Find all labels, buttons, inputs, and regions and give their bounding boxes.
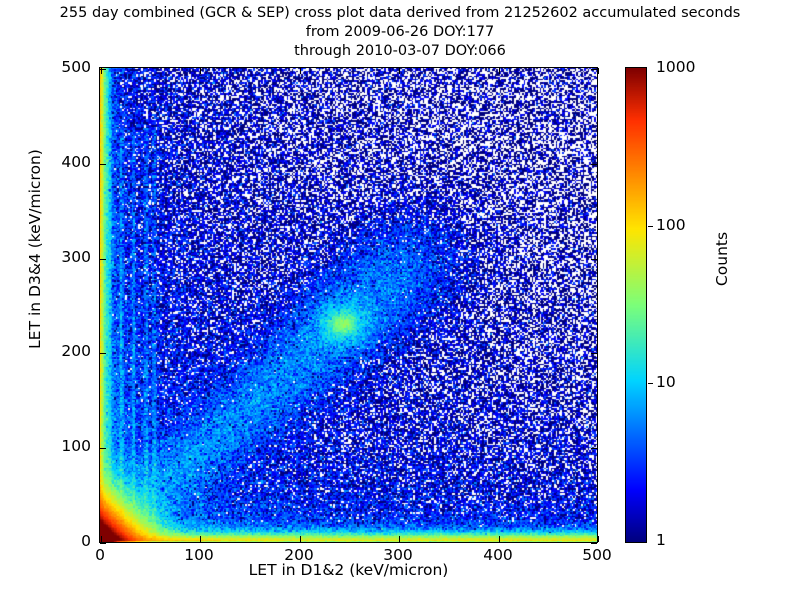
y-axis-title: LET in D3&4 (keV/micron) [26, 84, 44, 414]
y-tick-mark [100, 543, 106, 544]
title-line-2: from 2009-06-26 DOY:177 [0, 23, 800, 42]
colorbar-tick-mark [648, 383, 653, 384]
x-tick-mark [200, 68, 201, 74]
y-tick-mark [100, 259, 106, 260]
x-tick-mark [101, 536, 102, 542]
density-scatter-canvas [100, 68, 597, 542]
colorbar-tick-label: 100 [656, 218, 686, 234]
x-tick-mark [101, 68, 102, 74]
x-axis-title: LET in D1&2 (keV/micron) [99, 561, 598, 579]
y-tick-mark [591, 164, 597, 165]
y-tick-mark [100, 448, 106, 449]
x-tick-mark [598, 68, 599, 74]
x-tick-mark [399, 68, 400, 74]
x-tick-mark [300, 536, 301, 542]
y-tick-mark [591, 353, 597, 354]
colorbar-tick-label: 1000 [656, 60, 695, 76]
plot-axes-area [99, 67, 598, 543]
cross-plot-figure: 255 day combined (GCR & SEP) cross plot … [0, 0, 800, 600]
y-tick-label: 500 [31, 60, 91, 76]
colorbar-gradient [625, 67, 647, 543]
colorbar-title: Counts [713, 149, 731, 369]
x-tick-mark [598, 536, 599, 542]
y-tick-mark [591, 259, 597, 260]
colorbar-tick-mark [648, 226, 653, 227]
x-tick-mark [499, 536, 500, 542]
x-tick-mark [499, 68, 500, 74]
colorbar-tick-label: 10 [656, 375, 676, 391]
figure-title: 255 day combined (GCR & SEP) cross plot … [0, 4, 800, 61]
y-tick-mark [591, 448, 597, 449]
colorbar-tick-label: 1 [656, 533, 666, 549]
title-line-1: 255 day combined (GCR & SEP) cross plot … [0, 4, 800, 23]
y-tick-mark [100, 164, 106, 165]
x-tick-mark [300, 68, 301, 74]
y-tick-mark [591, 543, 597, 544]
y-tick-label: 100 [31, 439, 91, 455]
y-tick-mark [100, 353, 106, 354]
y-tick-mark [591, 69, 597, 70]
x-tick-mark [200, 536, 201, 542]
colorbar: 1101001000 [625, 67, 647, 543]
x-tick-mark [399, 536, 400, 542]
